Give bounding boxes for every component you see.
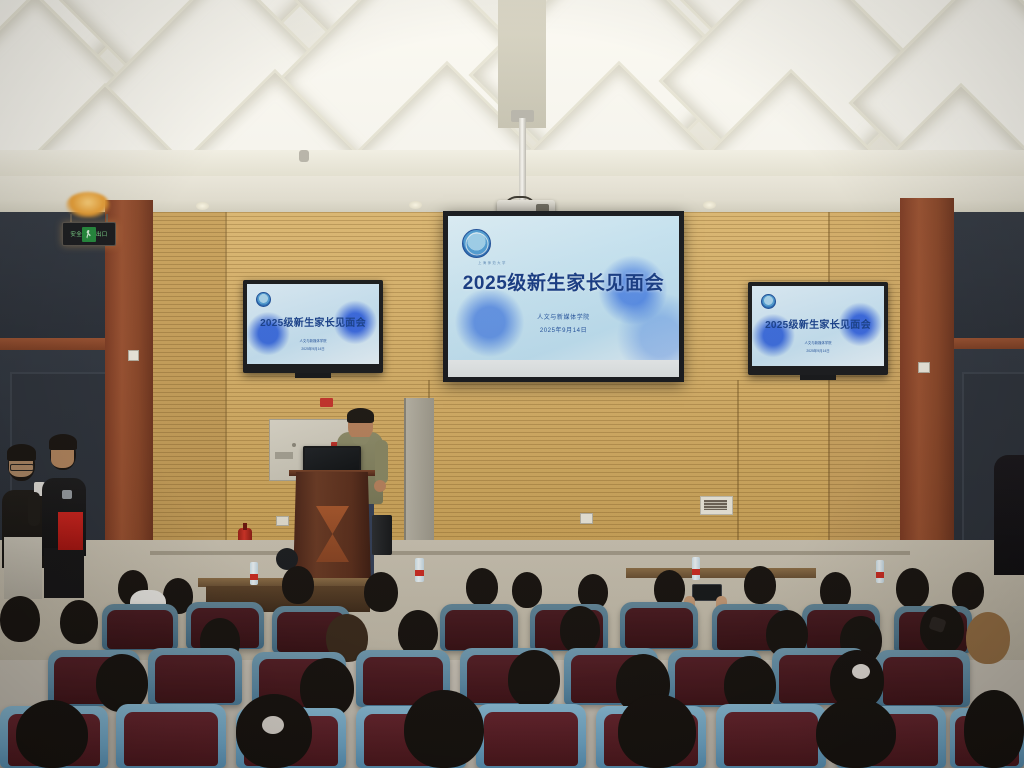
slide-title: 2025级新生家长见面会 xyxy=(448,268,679,295)
audience-head xyxy=(364,572,398,612)
slide-date: 2025年9月14日 xyxy=(448,325,679,334)
speaker-hair xyxy=(347,408,374,423)
left-monitor-bracket xyxy=(295,373,331,378)
bottle-label xyxy=(415,570,424,576)
wall-outlet xyxy=(580,513,593,524)
right-wall-upper-panel xyxy=(952,212,1024,342)
standing-person-arm xyxy=(28,492,40,526)
auditorium-seat[interactable] xyxy=(116,704,226,768)
right-monitor-org: 人文与新媒体学院 xyxy=(752,340,884,345)
wall-outlet xyxy=(276,516,289,526)
red-folder xyxy=(58,512,83,550)
right-wall-monitor: 2025级新生家长见面会 人文与新媒体学院 2025年9月14日 xyxy=(748,282,888,375)
downlight xyxy=(409,201,422,209)
auditorium-seat[interactable] xyxy=(620,602,698,649)
audience-head xyxy=(512,572,542,608)
university-seal-logo xyxy=(256,292,271,307)
right-monitor-date: 2025年9月14日 xyxy=(752,348,884,353)
stage-side-door xyxy=(404,398,434,550)
standing-person-face xyxy=(51,450,74,468)
bottle-label xyxy=(876,572,884,578)
vent-louvers xyxy=(704,500,727,510)
cabinet-label xyxy=(275,452,293,459)
front-table-top xyxy=(626,568,816,578)
light-switch xyxy=(918,362,930,373)
polo-logo-badge xyxy=(62,490,72,499)
downlight xyxy=(196,202,209,210)
audience-head xyxy=(560,606,600,654)
audience-head xyxy=(0,596,40,642)
audience-head xyxy=(896,568,929,608)
wall-seam xyxy=(828,212,830,557)
wall-seam xyxy=(225,212,227,557)
audience-head xyxy=(952,572,984,610)
standing-person-pants xyxy=(44,548,84,598)
extinguisher-nozzle xyxy=(243,523,247,530)
hair-scrunchie-icon xyxy=(852,664,870,679)
audience-head xyxy=(466,568,498,606)
slide-logo-caption: 上海师范大学 xyxy=(478,260,507,265)
wall-sconce-light xyxy=(66,192,110,218)
exit-sign-left-text: 安全 xyxy=(70,230,82,238)
presentation-slide: 上海师范大学 2025级新生家长见面会 人文与新媒体学院 2025年9月14日 xyxy=(448,216,679,360)
projector-drop-pole xyxy=(519,118,526,206)
stage-wall-base xyxy=(150,551,910,555)
right-wall-pilaster xyxy=(900,198,954,590)
audience-head xyxy=(404,690,484,768)
audience-head xyxy=(816,698,896,768)
audience-head xyxy=(60,600,98,644)
ceiling-beam xyxy=(498,0,546,128)
university-seal-logo xyxy=(462,229,491,258)
auditorium-seat[interactable] xyxy=(476,704,586,768)
exit-sign: 安全 出口 xyxy=(62,222,116,246)
audience-head xyxy=(744,566,776,604)
auditorium-seat[interactable] xyxy=(440,604,518,651)
projection-screen-frame: 上海师范大学 2025级新生家长见面会 人文与新媒体学院 2025年9月14日 xyxy=(443,211,684,382)
standing-person-silhouette xyxy=(994,455,1024,575)
left-wall-pilaster xyxy=(105,200,153,580)
cabinet-lock-icon xyxy=(292,443,296,447)
standing-person-pants xyxy=(4,537,42,599)
bottle-label xyxy=(250,574,258,580)
right-monitor-screen: 2025级新生家长见面会 人文与新媒体学院 2025年9月14日 xyxy=(752,286,884,366)
ceiling-speaker-icon xyxy=(299,150,309,162)
right-monitor-bracket xyxy=(800,375,836,380)
auditorium-photo: 安全 出口 2025级新生家长见面会 人文与新媒体学院 2025年9月14日 2… xyxy=(0,0,1024,768)
speaker-hand xyxy=(374,480,386,492)
left-wall-monitor: 2025级新生家长见面会 人文与新媒体学院 2025年9月14日 xyxy=(243,280,383,373)
left-monitor-org: 人文与新媒体学院 xyxy=(247,338,379,343)
fire-alarm-icon xyxy=(320,398,333,407)
standing-person-hair xyxy=(7,444,36,461)
glasses-icon xyxy=(10,464,34,471)
audience-head xyxy=(16,700,88,768)
audience-head xyxy=(964,690,1024,768)
hair-clip-icon xyxy=(262,716,284,734)
auditorium-seat[interactable] xyxy=(102,604,178,650)
left-monitor-title: 2025级新生家长见面会 xyxy=(247,314,379,329)
left-monitor-date: 2025年9月14日 xyxy=(247,346,379,351)
slide-organization: 人文与新媒体学院 xyxy=(448,312,679,321)
back-wall-right-return xyxy=(828,212,910,557)
right-monitor-title: 2025级新生家长见面会 xyxy=(752,316,884,331)
back-wall-left-return xyxy=(150,212,225,557)
auditorium-seat[interactable] xyxy=(716,704,826,768)
exit-sign-right-text: 出口 xyxy=(96,230,108,238)
left-monitor-screen: 2025级新生家长见面会 人文与新媒体学院 2025年9月14日 xyxy=(247,284,379,364)
audience-head xyxy=(508,650,560,708)
speaker-arm xyxy=(375,440,388,484)
auditorium-seat[interactable] xyxy=(876,650,970,707)
auditorium-seat[interactable] xyxy=(148,648,242,705)
screen-bottom-band xyxy=(448,360,679,377)
standing-person-hair xyxy=(49,434,77,450)
audience-head-dyed-hair xyxy=(966,612,1010,664)
university-seal-logo xyxy=(761,294,776,309)
projection-screen: 上海师范大学 2025级新生家长见面会 人文与新媒体学院 2025年9月14日 xyxy=(448,216,679,377)
bottle-label xyxy=(692,569,700,575)
running-man-exit-icon xyxy=(82,227,96,242)
floor-speaker xyxy=(372,515,392,555)
audience-head xyxy=(282,566,314,604)
light-switch xyxy=(128,350,139,361)
wall-seam xyxy=(737,380,739,557)
downlight xyxy=(703,201,716,209)
audience-head xyxy=(618,694,696,768)
